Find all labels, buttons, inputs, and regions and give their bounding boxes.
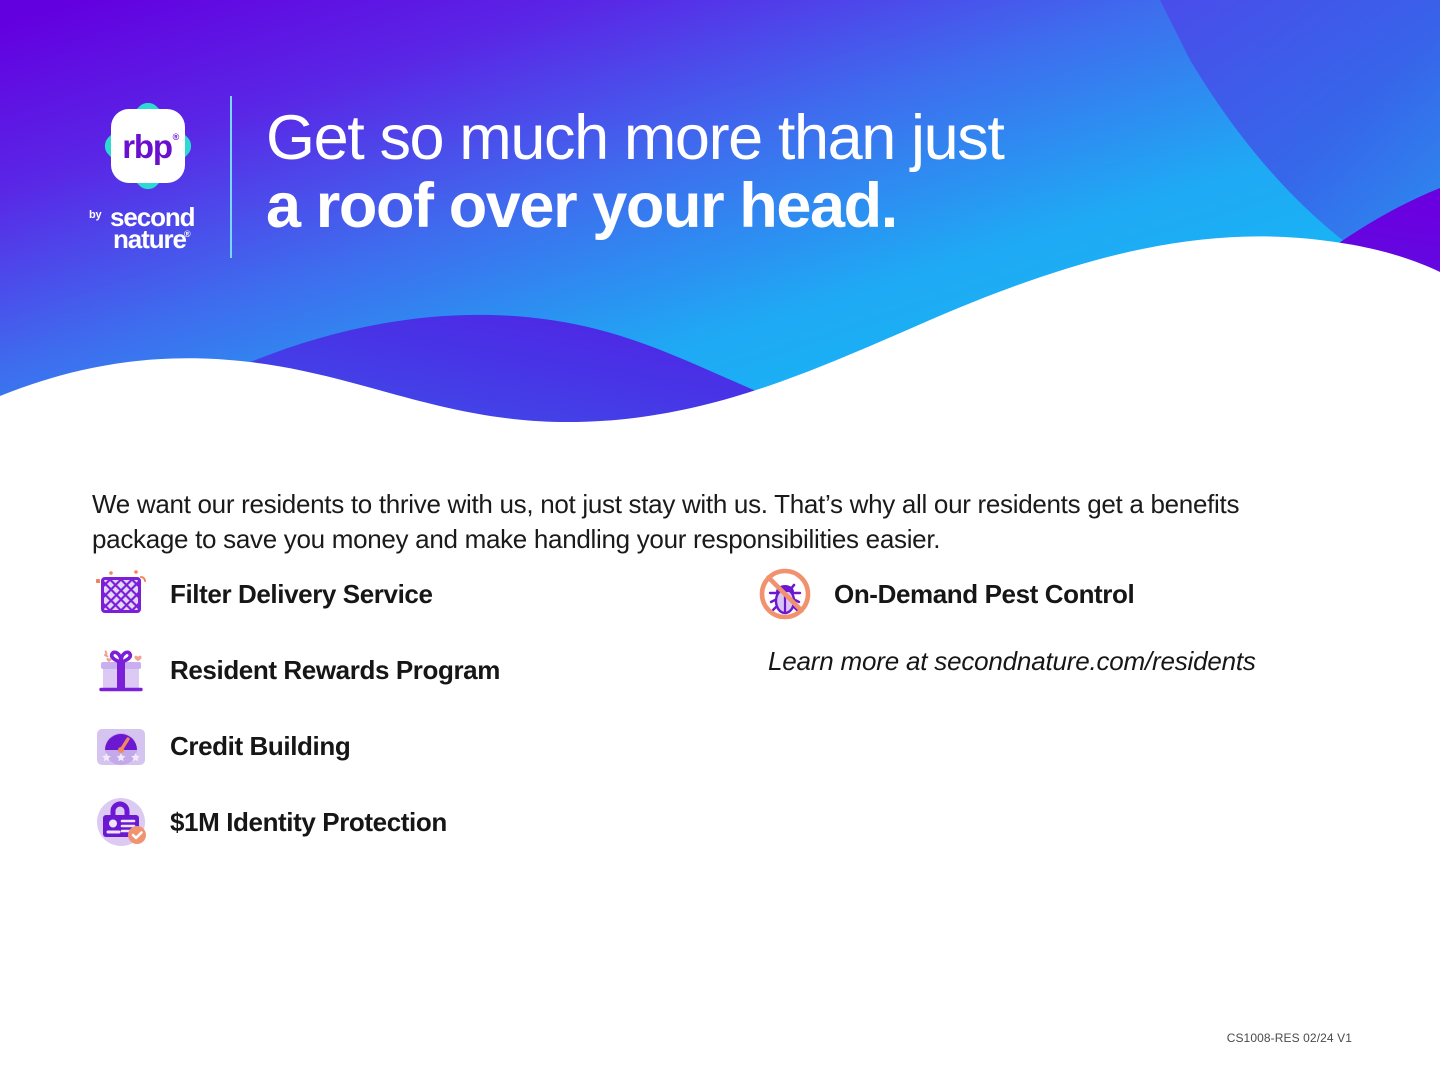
credit-gauge-icon (92, 717, 150, 775)
benefits-column-right: On-Demand Pest Control Learn more at sec… (756, 556, 1376, 677)
svg-text:®: ® (173, 132, 180, 142)
air-filter-icon (92, 565, 150, 623)
benefits-column-left: Filter Delivery Service Resident Rewards… (92, 556, 712, 860)
benefit-item-credit-building: Credit Building (92, 708, 712, 784)
intro-paragraph: We want our residents to thrive with us,… (92, 487, 1307, 556)
wordmark-nature: nature (113, 226, 186, 252)
no-bug-icon (756, 565, 814, 623)
benefit-label: Filter Delivery Service (170, 579, 433, 610)
headline-line-2: a roof over your head. (266, 174, 1003, 238)
benefit-label: Credit Building (170, 731, 350, 762)
learn-more-text: Learn more at secondnature.com/residents (768, 646, 1376, 677)
benefit-item-filter-delivery: Filter Delivery Service (92, 556, 712, 632)
hero-banner: rbp ® by second nature ® Get so much mor… (0, 0, 1440, 440)
brand-logo-lockup: rbp ® by second nature ® (88, 98, 288, 258)
gift-box-icon (92, 641, 150, 699)
benefit-label: Resident Rewards Program (170, 655, 500, 686)
rbp-logo-icon: rbp ® (100, 98, 196, 194)
headline-line-1: Get so much more than just (266, 106, 1003, 170)
id-lock-icon (92, 793, 150, 851)
wordmark-registered-icon: ® (184, 230, 191, 239)
wordmark-by: by (89, 210, 101, 221)
benefit-item-pest-control: On-Demand Pest Control (756, 556, 1376, 632)
page-title: Get so much more than just a roof over y… (266, 106, 1003, 239)
header-divider (230, 96, 232, 258)
benefit-label: $1M Identity Protection (170, 807, 447, 838)
svg-text:rbp: rbp (122, 128, 172, 165)
benefit-item-resident-rewards: Resident Rewards Program (92, 632, 712, 708)
document-code: CS1008-RES 02/24 V1 (1227, 1031, 1352, 1045)
benefit-item-identity-protection: $1M Identity Protection (92, 784, 712, 860)
benefit-label: On-Demand Pest Control (834, 579, 1134, 610)
